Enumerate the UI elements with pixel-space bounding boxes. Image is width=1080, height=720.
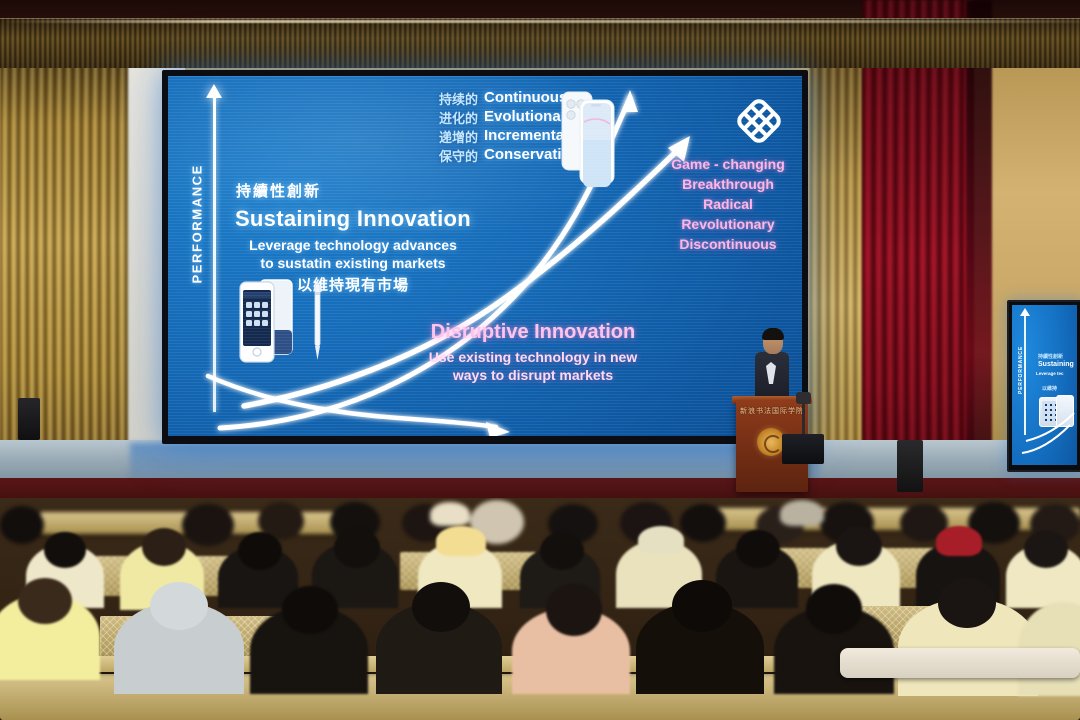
audience-area <box>0 498 1080 720</box>
presentation-slide[interactable]: PERFORMANCE 持续的 进化的 递增的 保守的 <box>168 76 802 436</box>
loudspeaker-right <box>897 440 923 492</box>
knot-diamond-logo-icon <box>736 98 782 144</box>
continuous-chinese-list: 持续的 进化的 递增的 保守的 <box>408 90 478 166</box>
curtain-pelmet <box>0 18 1080 68</box>
gold-curtain-right <box>810 58 868 468</box>
stylus-pen-icon <box>314 282 321 360</box>
side-monitor[interactable]: PERFORMANCE 持續性創新 Sustaining Leverage te… <box>1007 300 1080 472</box>
podium-emblem-icon <box>757 428 785 456</box>
pelmet-highlight <box>0 20 1080 23</box>
old-smartphone-icon <box>238 276 304 368</box>
loudspeaker-left <box>18 398 40 440</box>
side-monitor-screen: PERFORMANCE 持續性創新 Sustaining Leverage te… <box>1012 305 1077 465</box>
sustaining-chinese-heading: 持續性創新 <box>228 180 478 201</box>
sustaining-body-line-1: Leverage technology advances <box>228 236 478 254</box>
lecture-hall-photo: PERFORMANCE 持续的 进化的 递增的 保守的 <box>0 0 1080 720</box>
gamechanging-list: Game - changing Breakthrough Radical Rev… <box>658 154 798 254</box>
sustaining-body-line-2: to sustatin existing markets <box>228 254 478 272</box>
disruptive-heading: Disruptive Innovation <box>418 321 648 344</box>
disruptive-block: Disruptive Innovation Use existing techn… <box>418 321 648 384</box>
sustaining-heading: Sustaining Innovation <box>228 206 478 232</box>
disruptive-body-line-1: Use existing technology in new <box>418 348 648 366</box>
red-curtain-edge <box>966 0 992 470</box>
speaker-hair <box>762 328 784 340</box>
stage-monitor-box <box>782 434 824 464</box>
podium-nameplate: 新浪书法国际学院 <box>736 406 808 416</box>
disruptive-body-line-2: ways to disrupt markets <box>418 366 648 384</box>
red-curtain-right <box>862 0 974 470</box>
modern-smartphone-icon <box>560 88 622 188</box>
side-curves <box>1012 305 1077 465</box>
